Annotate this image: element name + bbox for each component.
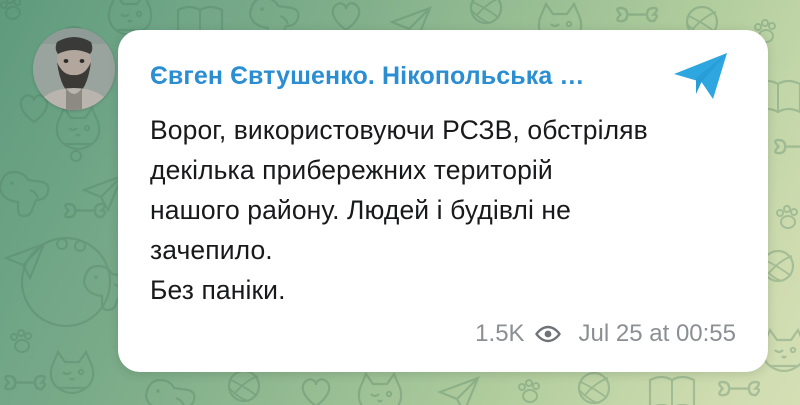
post-timestamp: Jul 25 at 00:55 [579,320,736,348]
post-message-text: Ворог, використовуючи РСЗВ, обстріляв де… [150,110,710,310]
view-count-value: 1.5K [475,320,524,348]
view-count-group: 1.5K [475,320,560,348]
channel-name[interactable]: Євген Євтушенко. Нікопольська … [150,62,584,91]
post-header: Євген Євтушенко. Нікопольська … [150,56,738,96]
avatar [33,28,115,110]
message-line: нашого району. Людей і будівлі не [150,190,710,230]
message-line: Без паніки. [150,270,710,310]
eye-icon [535,325,561,343]
message-line: зачепило. [150,230,710,270]
telegram-post-screenshot: Євген Євтушенко. Нікопольська … Ворог, в… [0,0,800,405]
telegram-post-card[interactable]: Євген Євтушенко. Нікопольська … Ворог, в… [118,30,768,372]
telegram-logo-icon [672,52,730,102]
post-footer: 1.5K Jul 25 at 00:55 [475,320,736,348]
message-line: Ворог, використовуючи РСЗВ, обстріляв [150,110,710,150]
message-line: декілька прибережних територій [150,150,710,190]
